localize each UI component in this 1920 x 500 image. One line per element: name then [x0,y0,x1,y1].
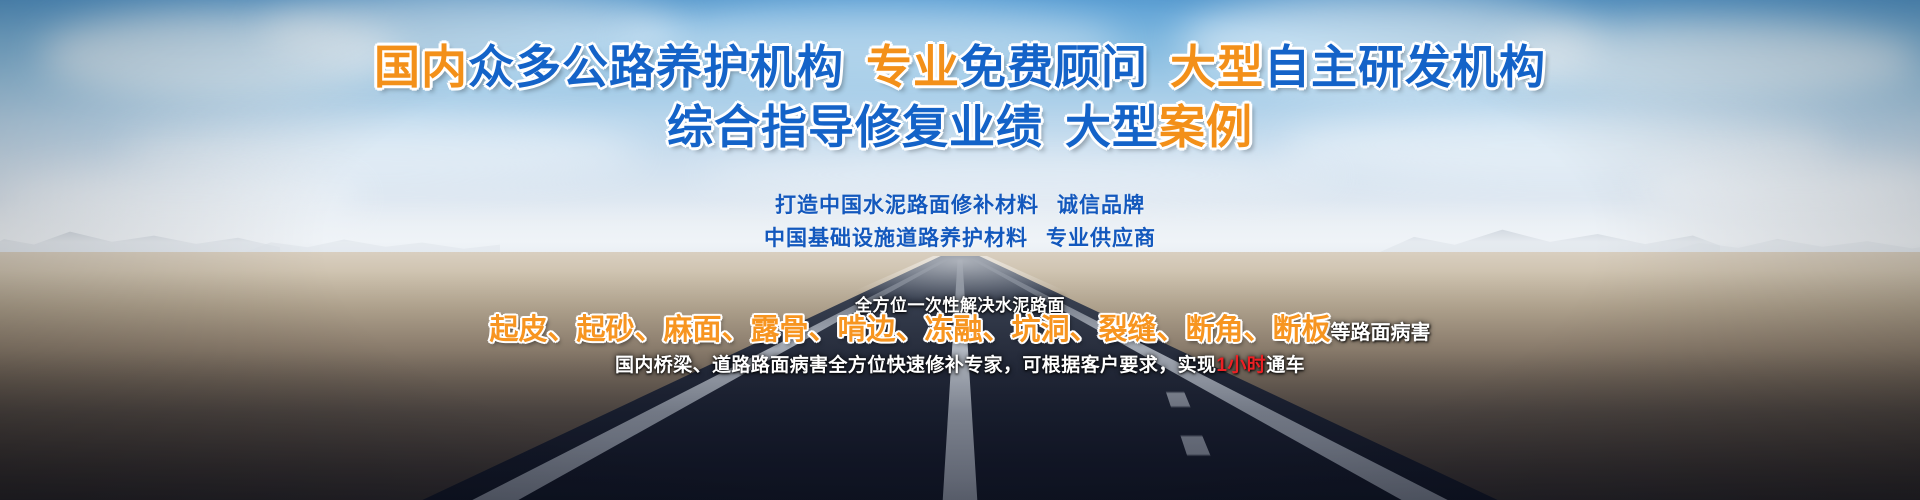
promo-banner: 国内众多公路养护机构专业免费顾问大型自主研发机构 综合指导修复业绩大型案例 打造… [0,0,1920,500]
headline-1-seg-zizhu: 自主研发机构 [1264,41,1546,93]
banner-text-content: 国内众多公路养护机构专业免费顾问大型自主研发机构 综合指导修复业绩大型案例 打造… [0,0,1920,500]
headline-2-seg-zonghe: 综合指导修复业绩 [667,101,1043,153]
headline-1-seg-zhuanye: 专业 [866,41,960,93]
headline-1-seg-mianfei: 免费顾问 [960,41,1148,93]
subtitle-line-1: 打造中国水泥路面修补材料诚信品牌 [0,195,1920,216]
closing-seg-1: 国内桥梁、道路路面病害全方位快速修补专家，可根据客户要求，实现 [615,355,1216,376]
headline-1-seg-daxing: 大型 [1170,41,1264,93]
closing-seg-2: 通车 [1266,355,1305,376]
subtitle-1-seg-1: 打造中国水泥路面修补材料 [775,194,1039,217]
road-tagline: 全方位一次性解决水泥路面 [0,297,1920,314]
subtitle-2-seg-2: 专业供应商 [1046,227,1156,250]
subtitle-1-seg-2: 诚信品牌 [1057,194,1145,217]
headline-2-seg-daxing: 大型 [1065,101,1159,153]
road-closing-line: 国内桥梁、道路路面病害全方位快速修补专家，可根据客户要求，实现1小时通车 [0,356,1920,375]
subtitle-2-seg-1: 中国基础设施道路养护材料 [764,227,1028,250]
closing-highlight-1hour: 1小时 [1216,355,1266,376]
headline-1-seg-zhongduo: 众多公路养护机构 [468,41,844,93]
subtitle-line-2: 中国基础设施道路养护材料专业供应商 [0,228,1920,249]
headline-line-1: 国内众多公路养护机构专业免费顾问大型自主研发机构 [0,44,1920,90]
headline-1-seg-guonei: 国内 [374,41,468,93]
headline-line-2: 综合指导修复业绩大型案例 [0,104,1920,150]
road-defect-list-line: 起皮、起砂、麻面、露骨、啃边、冻融、坑洞、裂缝、断角、断板等路面病害 [0,316,1920,345]
defect-list: 起皮、起砂、麻面、露骨、啃边、冻融、坑洞、裂缝、断角、断板 [489,314,1330,346]
defect-list-suffix: 等路面病害 [1331,322,1431,344]
headline-2-seg-anli: 案例 [1159,101,1253,153]
